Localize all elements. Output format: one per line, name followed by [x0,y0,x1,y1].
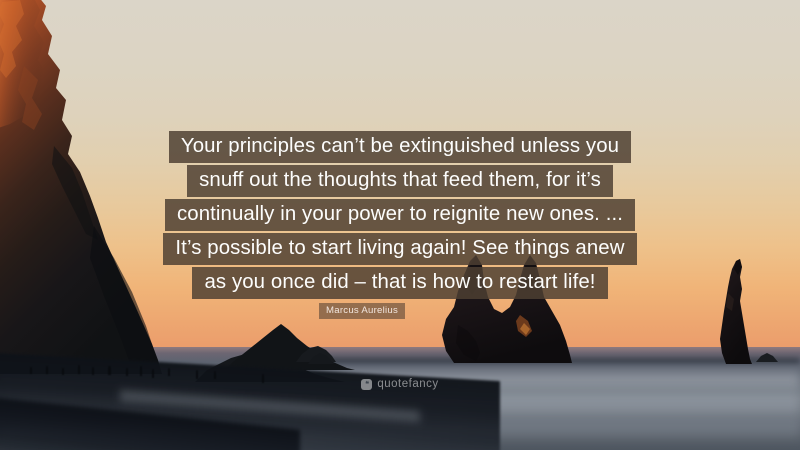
quote-wallpaper: Your principles can’t be extinguished un… [0,0,800,450]
quote-line-row: continually in your power to reignite ne… [0,199,800,233]
watermark-label: quotefancy [377,378,438,390]
rock-small-b [308,352,334,364]
quote-line-1: Your principles can’t be extinguished un… [169,131,631,163]
watermark-inner: ❝ quotefancy [361,378,438,390]
beach-figure [126,368,128,376]
beach-figure [152,369,154,378]
author-name: Marcus Aurelius [319,303,405,319]
quote-line-row: Your principles can’t be extinguished un… [0,131,800,165]
quotefancy-logo-icon: ❝ [361,379,372,390]
watermark: ❝ quotefancy [0,378,800,390]
quote-line-row: as you once did – that is how to restart… [0,267,800,301]
beach-figure [168,368,170,376]
quote-line-3: continually in your power to reignite ne… [165,199,635,231]
beach-figure [140,366,142,376]
author-row: Marcus Aurelius [0,300,800,319]
beach-figure [30,367,32,374]
quote-line-5: as you once did – that is how to restart… [192,267,607,299]
quote-line-2: snuff out the thoughts that feed them, f… [187,165,613,197]
beach-figure [92,367,94,375]
beach-figure [62,368,64,375]
quote-line-row: snuff out the thoughts that feed them, f… [0,165,800,199]
beach-figure [78,365,80,374]
rock-small-c [756,352,778,362]
beach-figure [108,366,111,375]
quote-line-row: It’s possible to start living again! See… [0,233,800,267]
quote-line-4: It’s possible to start living again! See… [163,233,636,265]
beach-figure [46,366,48,374]
quote-text: Your principles can’t be extinguished un… [0,131,800,301]
